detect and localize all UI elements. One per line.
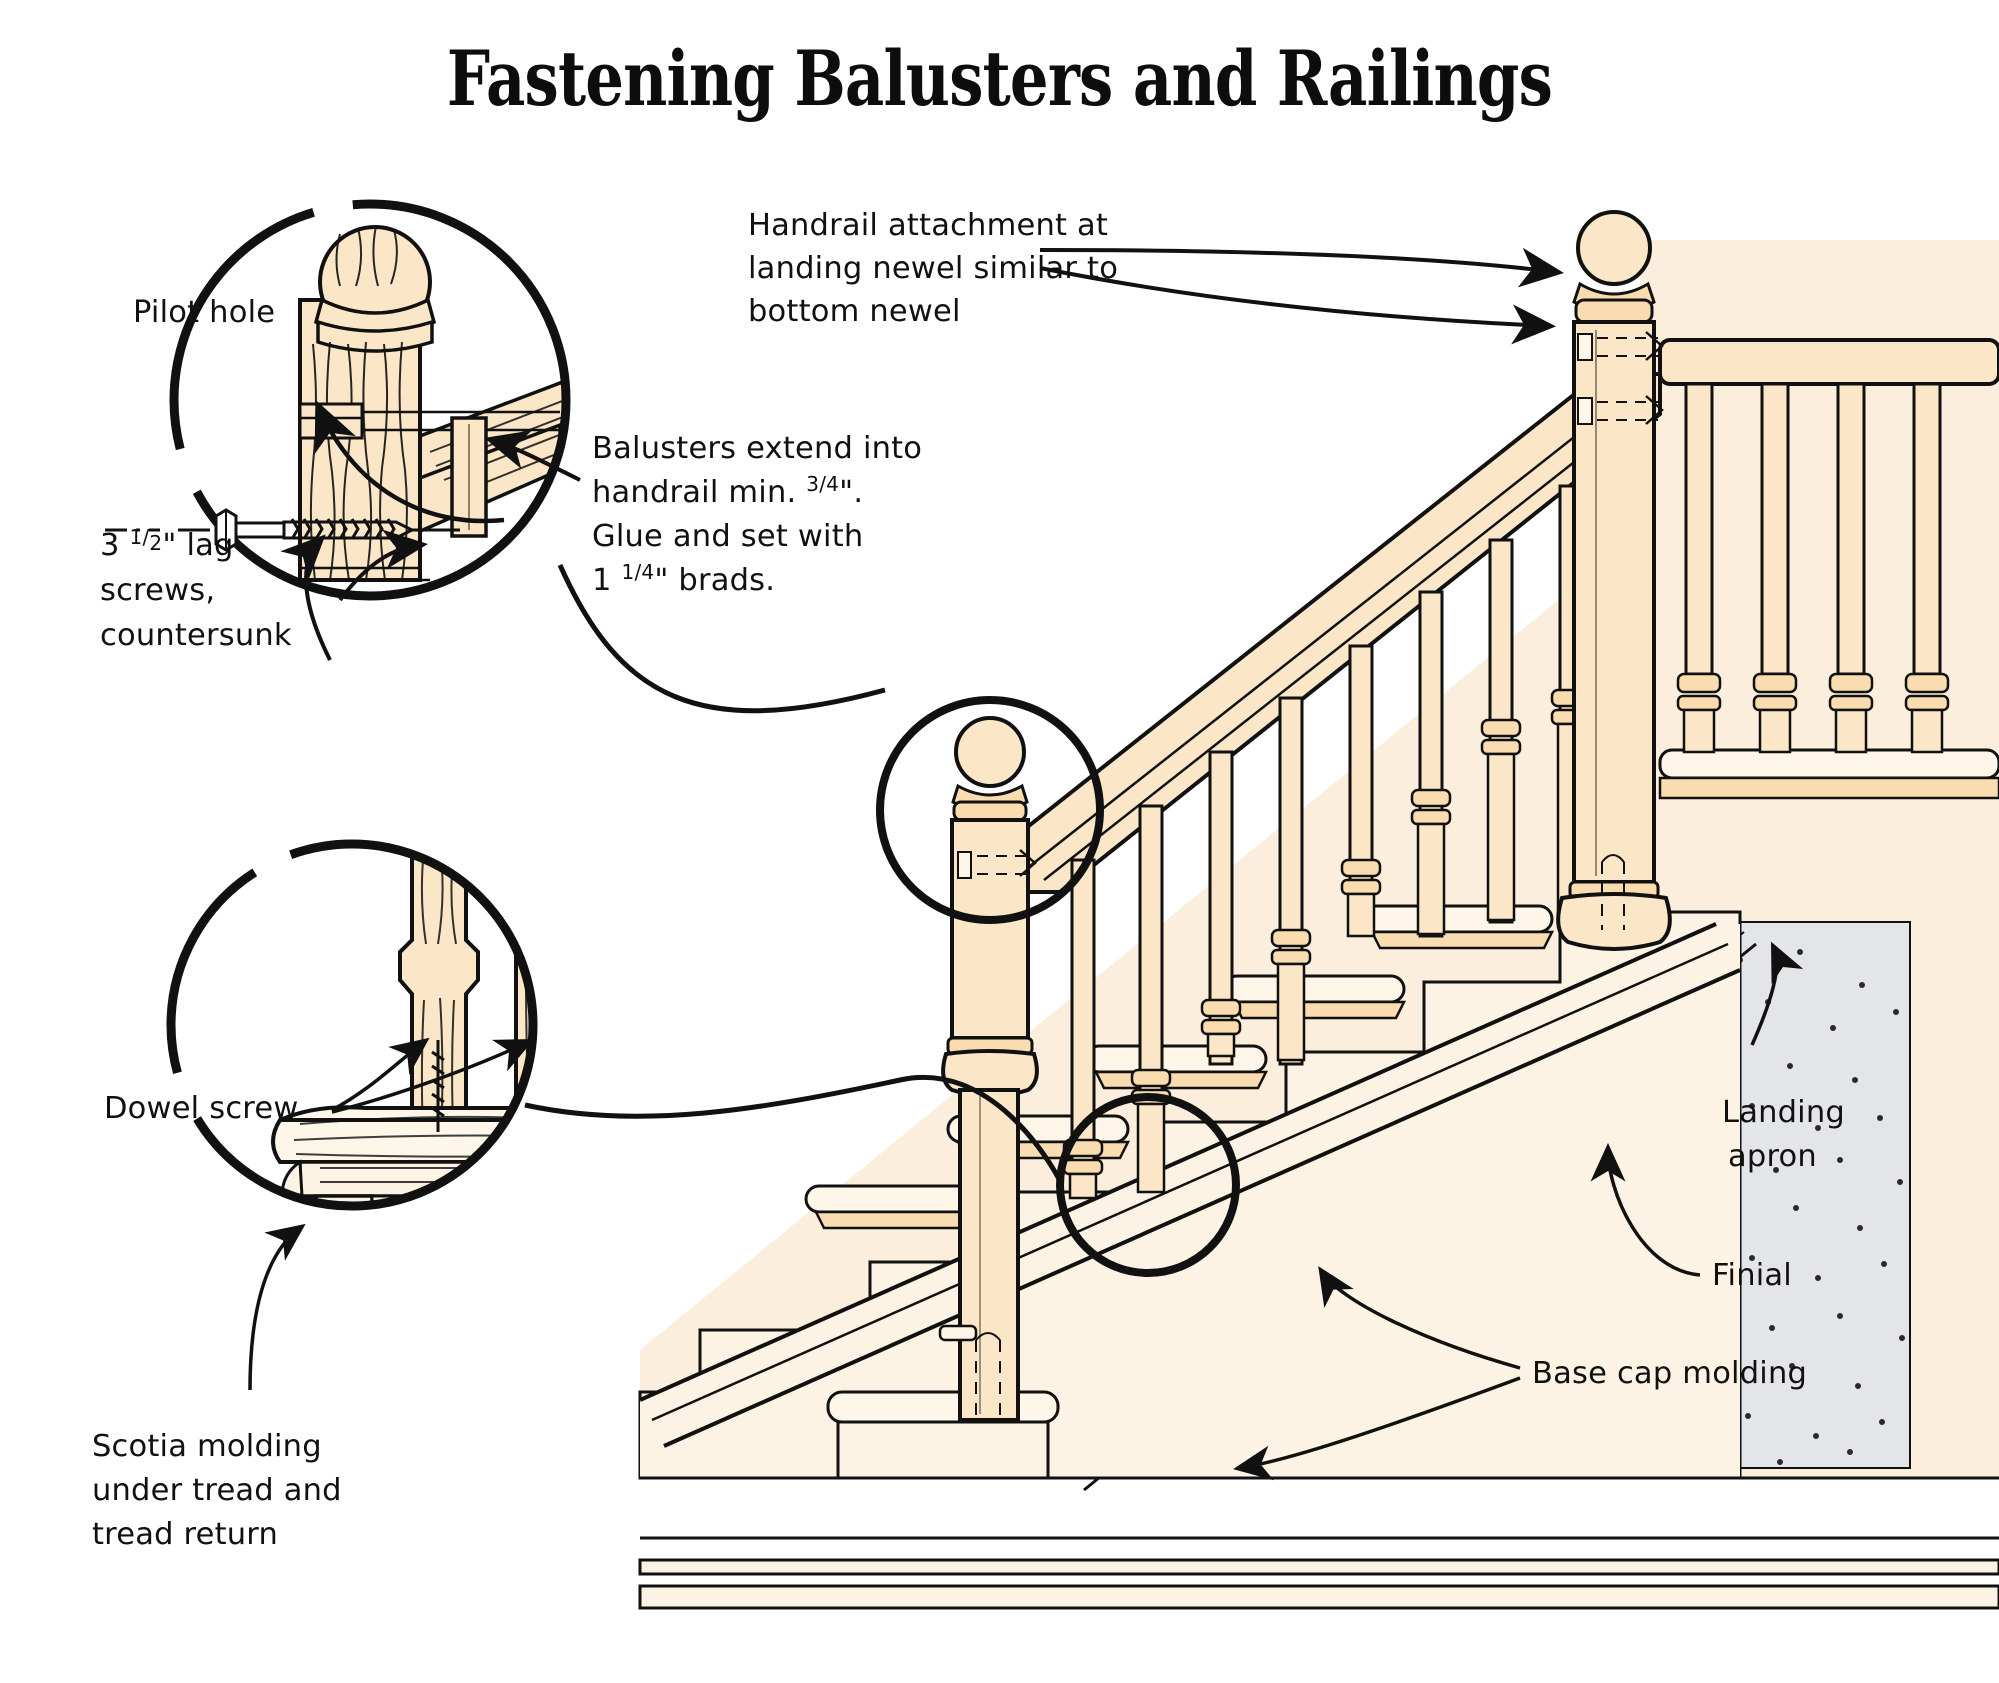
svg-text:3 1/2" lag: 3 1/2" lag bbox=[100, 525, 234, 563]
landing-apron-line1: Landing bbox=[1722, 1095, 1845, 1130]
label-scotia-molding: Scotia molding under tread and tread ret… bbox=[92, 1429, 342, 1552]
lag-screws-line2: screws, bbox=[100, 573, 215, 608]
landing-apron-line2: apron bbox=[1728, 1139, 1817, 1174]
lag-screws-line3: countersunk bbox=[100, 618, 292, 653]
scotia-line1: Scotia molding bbox=[92, 1429, 322, 1464]
lag-screws-denominator: 2 bbox=[149, 531, 162, 555]
handrail-line3: bottom newel bbox=[748, 294, 961, 329]
label-handrail-attachment: Handrail attachment at landing newel sim… bbox=[748, 208, 1118, 329]
floor-bands bbox=[640, 1478, 1999, 1608]
handrail-line2: landing newel similar to bbox=[748, 251, 1118, 286]
svg-text:1 1/4" brads.: 1 1/4" brads. bbox=[592, 560, 775, 598]
handrail-line1: Handrail attachment at bbox=[748, 208, 1108, 243]
balusters-fraction-3-4: 3/4 bbox=[806, 472, 839, 496]
label-finial: Finial bbox=[1712, 1258, 1792, 1293]
dowel-screw-right bbox=[534, 1040, 546, 1132]
label-dowel-screw: Dowel screw bbox=[104, 1091, 298, 1126]
balusters-line1: Balusters extend into bbox=[592, 431, 922, 466]
label-balusters-extend: Balusters extend into handrail min. 3/4"… bbox=[592, 431, 922, 598]
bottom-step bbox=[828, 1392, 1058, 1478]
label-base-cap-molding: Base cap molding bbox=[1532, 1356, 1807, 1391]
lag-screws-suffix: " lag bbox=[162, 528, 233, 563]
balusters-line2-a: handrail min. bbox=[592, 475, 806, 510]
finial-shape bbox=[1558, 894, 1670, 949]
stair-diagram: Pilot hole 3 1/2" lag screws, countersun… bbox=[0, 0, 1999, 1683]
balusters-line4-a: 1 bbox=[592, 563, 622, 598]
balusters-line2-c: ". bbox=[839, 475, 863, 510]
balusters-line4-c: " brads. bbox=[654, 563, 775, 598]
scotia-line2: under tread and bbox=[92, 1473, 342, 1508]
landing-newel-post bbox=[1558, 212, 1670, 949]
illustration-canvas: Fastening Balusters and Railings bbox=[0, 0, 1999, 1683]
balusters-fraction-1-4: 1/4 bbox=[622, 560, 655, 584]
lag-screws-prefix: 3 bbox=[100, 528, 130, 563]
lag-screws-numerator: 1 bbox=[130, 525, 143, 549]
svg-text:handrail min. 3/4".: handrail min. 3/4". bbox=[592, 472, 863, 510]
stair-scene bbox=[640, 212, 1999, 1608]
label-pilot-hole: Pilot hole bbox=[133, 295, 275, 330]
baluster bbox=[1482, 540, 1520, 922]
scotia-line3: tread return bbox=[92, 1517, 278, 1552]
balusters-line3: Glue and set with bbox=[592, 519, 863, 554]
dowel-screw-detail bbox=[160, 830, 562, 1330]
